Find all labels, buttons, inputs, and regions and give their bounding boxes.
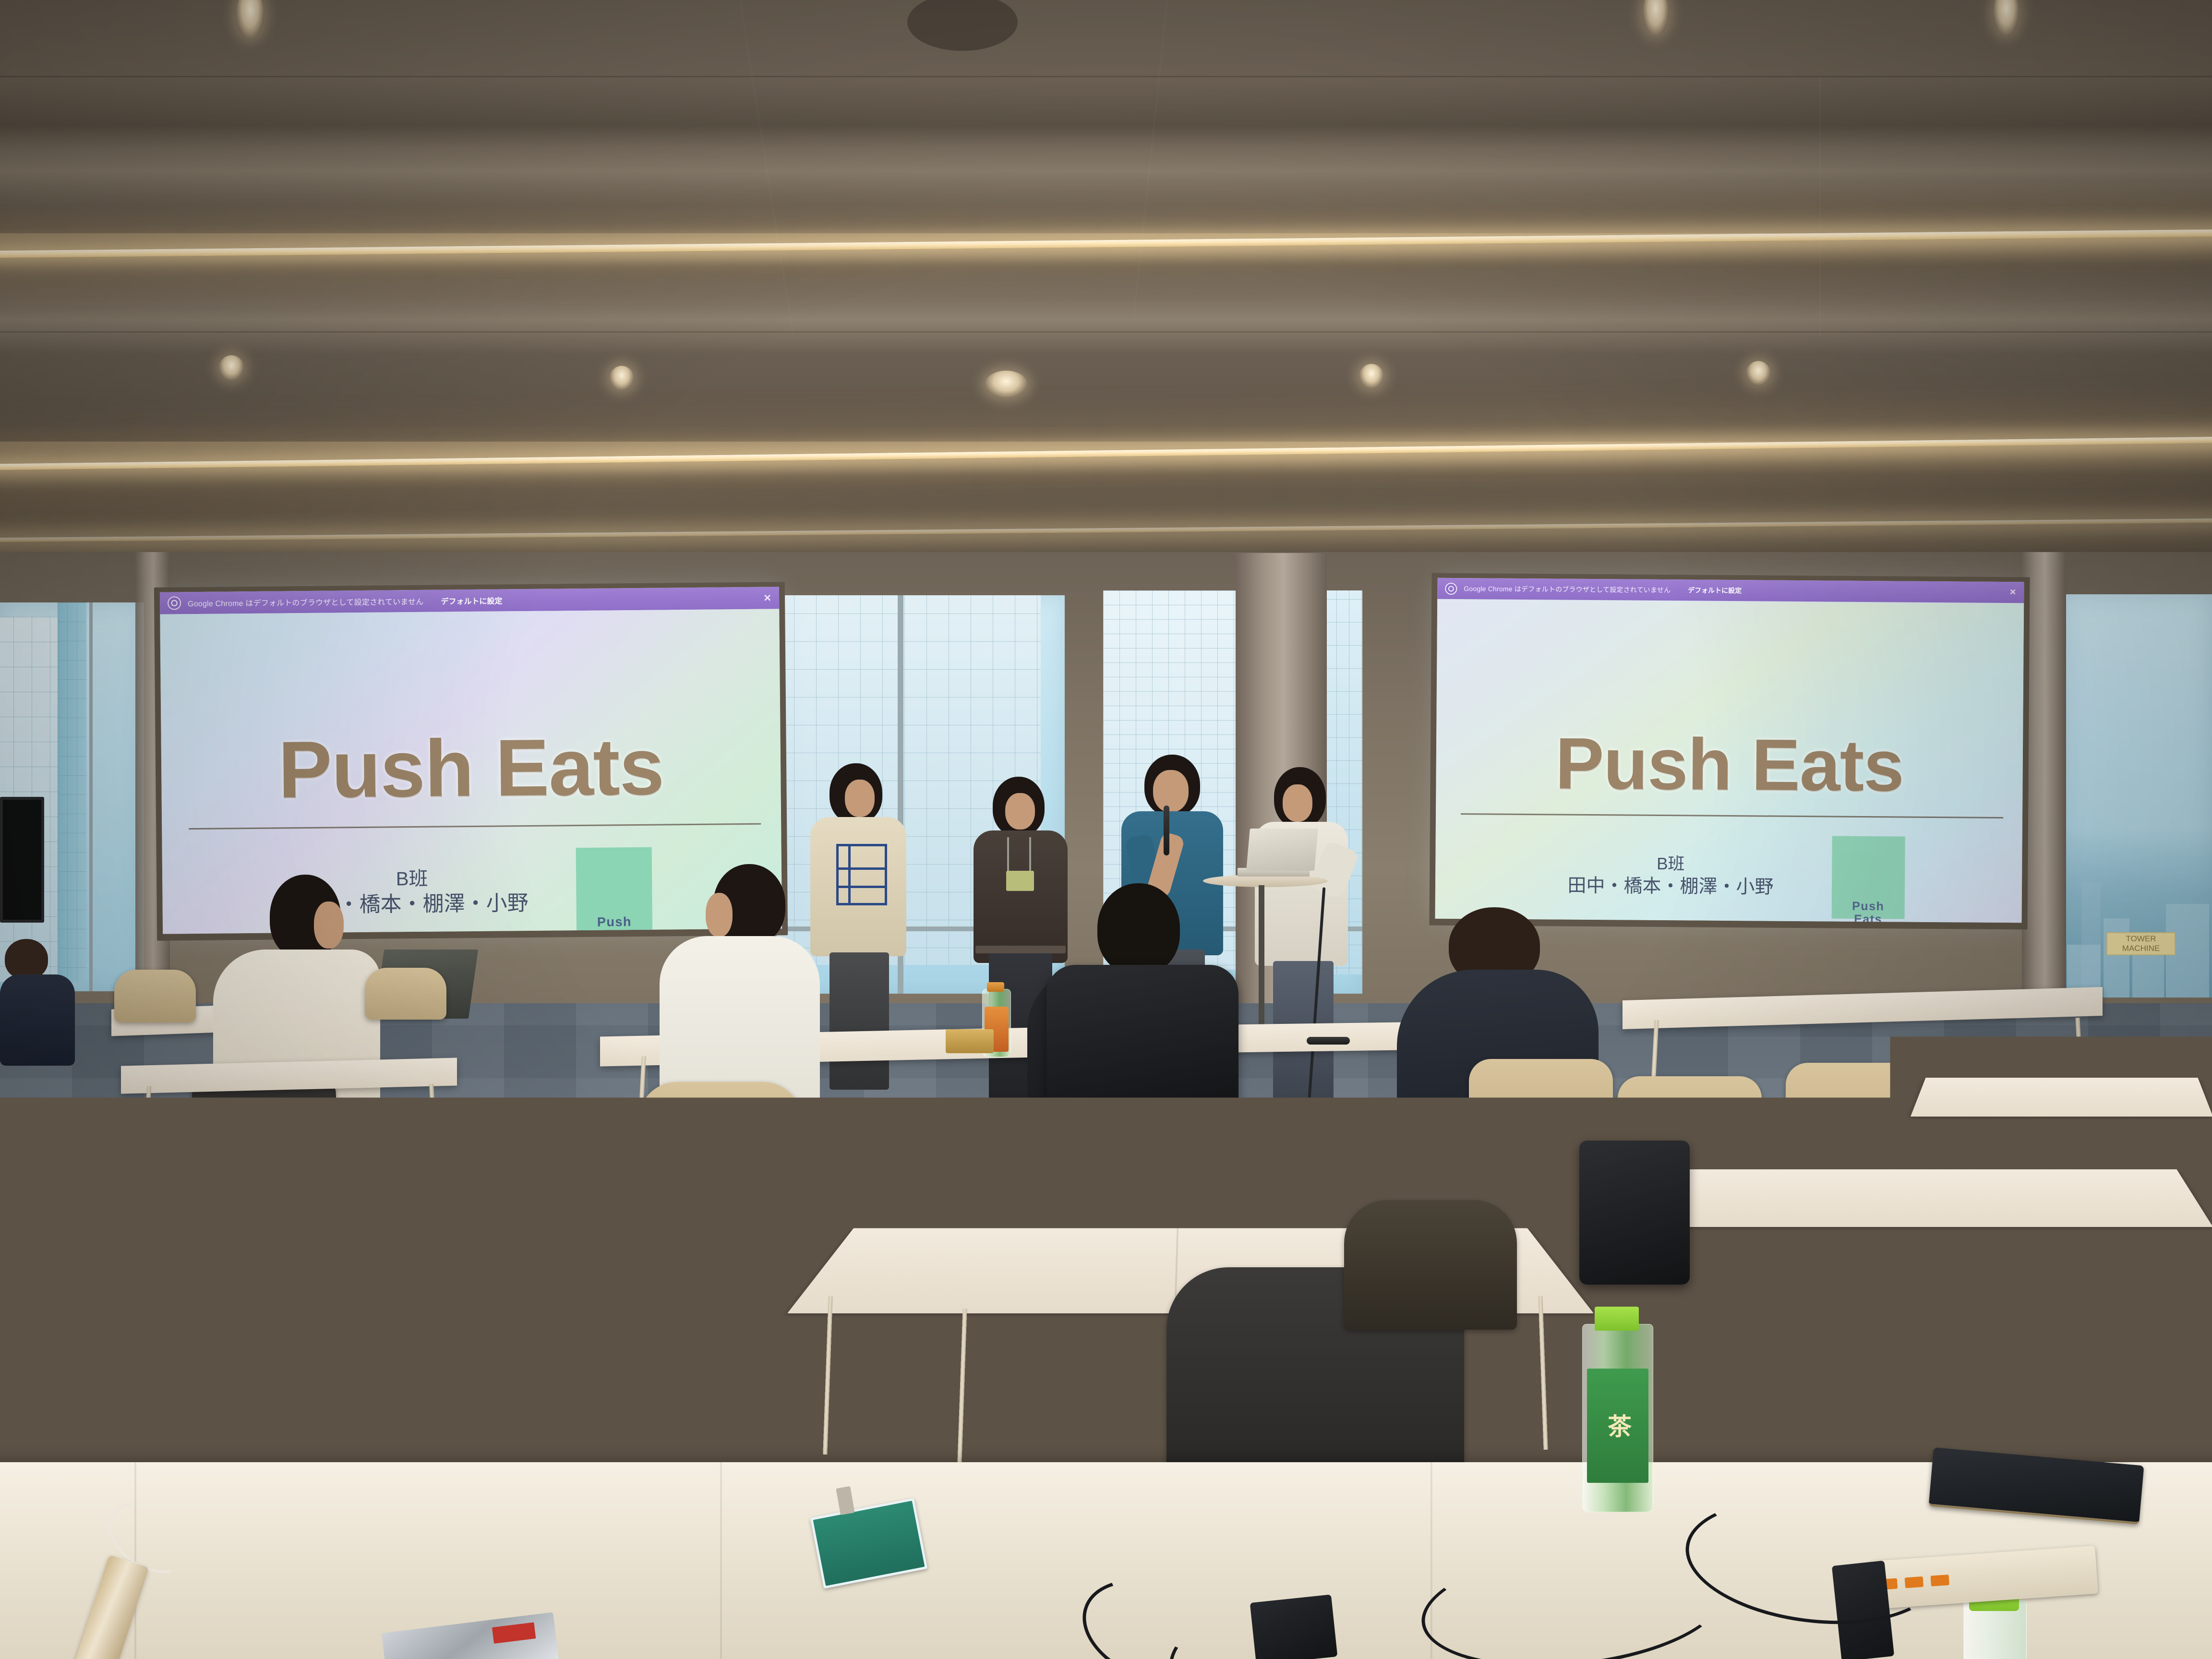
window-sign: TOWER MACHINE: [2106, 932, 2176, 955]
podium-stem: [1259, 885, 1264, 1029]
chair[interactable]: [1344, 1200, 1517, 1330]
tea-label: 茶: [1587, 1369, 1649, 1483]
head: [5, 939, 48, 979]
face: [845, 780, 875, 817]
logo-line-1: Push: [597, 915, 632, 929]
ceiling-seam: [0, 331, 2212, 333]
downlight-icon: [219, 355, 244, 380]
chrome-default-browser-bar-right: Google Chrome はデフォルトのブラウザとして設定されていません デフ…: [1437, 578, 2024, 603]
chrome-icon: [1445, 582, 1457, 594]
push-eats-logo: Push Eats: [576, 847, 653, 932]
photo-scene: TOWER MACHINE Google Chrome はデフォルトのブラウザと…: [0, 0, 2212, 1659]
chrome-icon: [168, 596, 181, 610]
push-eats-logo: Push Eats: [1832, 836, 1905, 919]
chair[interactable]: [509, 1174, 672, 1304]
slide-divider: [189, 823, 761, 829]
chair[interactable]: [845, 1110, 994, 1230]
chrome-notice-message: Google Chrome はデフォルトのブラウザとして設定されていません: [1464, 584, 1671, 595]
laptop-lid: [1246, 829, 1318, 871]
chair[interactable]: [365, 968, 446, 1020]
face: [1005, 793, 1035, 829]
bottle-cap: [987, 982, 1004, 992]
set-default-browser-button[interactable]: デフォルトに設定: [441, 594, 502, 606]
slide-divider: [1461, 813, 2003, 818]
close-icon[interactable]: ✕: [2009, 588, 2016, 597]
window-right: TOWER MACHINE: [2062, 594, 2212, 998]
downlight-icon: [1746, 361, 1770, 385]
handheld-mic-on-table: [1307, 1037, 1350, 1045]
black-bag: [298, 1147, 408, 1258]
face: [314, 902, 344, 949]
wall-monitor: [0, 797, 44, 923]
slide-right: Push Eats B班 田中・橋本・棚澤・小野 Push Eats: [1435, 600, 2024, 923]
bottle-cap-green: [1595, 1307, 1639, 1331]
black-bag-small: [1579, 1141, 1690, 1285]
lanyard: [1007, 837, 1031, 872]
logo-line-1: Push: [1852, 901, 1884, 913]
slide-title: Push Eats: [1436, 721, 2023, 809]
black-backpack-center: [1046, 965, 1238, 1109]
green-tea-bottle: 茶: [1582, 1324, 1653, 1512]
chair[interactable]: [41, 1203, 185, 1318]
torso: [0, 974, 75, 1066]
ceiling-panel-line: [1819, 77, 1821, 337]
attendee-far-left: [0, 939, 77, 1064]
downlight-icon: [1359, 364, 1383, 388]
tshirt-graphic: [836, 844, 887, 905]
logo-line-2: Eats: [1854, 914, 1882, 923]
projector-screen-right: Google Chrome はデフォルトのブラウザとして設定されていません デフ…: [1435, 578, 2024, 923]
face: [1283, 784, 1312, 822]
ceiling: [0, 0, 2212, 571]
attendee-white-tee: [652, 864, 825, 1286]
close-icon[interactable]: ✕: [763, 592, 771, 604]
face: [706, 893, 733, 937]
microphone: [1164, 805, 1169, 855]
legs: [829, 952, 889, 1090]
presenter-4-laptop: [1255, 767, 1361, 1111]
chrome-notice-message: Google Chrome はデフォルトのブラウザとして設定されていません: [188, 595, 424, 609]
downlight-icon: [985, 371, 1027, 397]
face: [1153, 770, 1189, 812]
food-item: [946, 1029, 994, 1053]
head: [1097, 883, 1180, 974]
slide-title: Push Eats: [161, 719, 781, 817]
set-default-browser-button[interactable]: デフォルトに設定: [1688, 585, 1742, 595]
slide-members: 田中・橋本・棚澤・小野: [1498, 872, 1843, 901]
ceiling-seam: [0, 76, 2212, 77]
chair[interactable]: [114, 970, 196, 1022]
downlight-icon: [610, 366, 634, 390]
